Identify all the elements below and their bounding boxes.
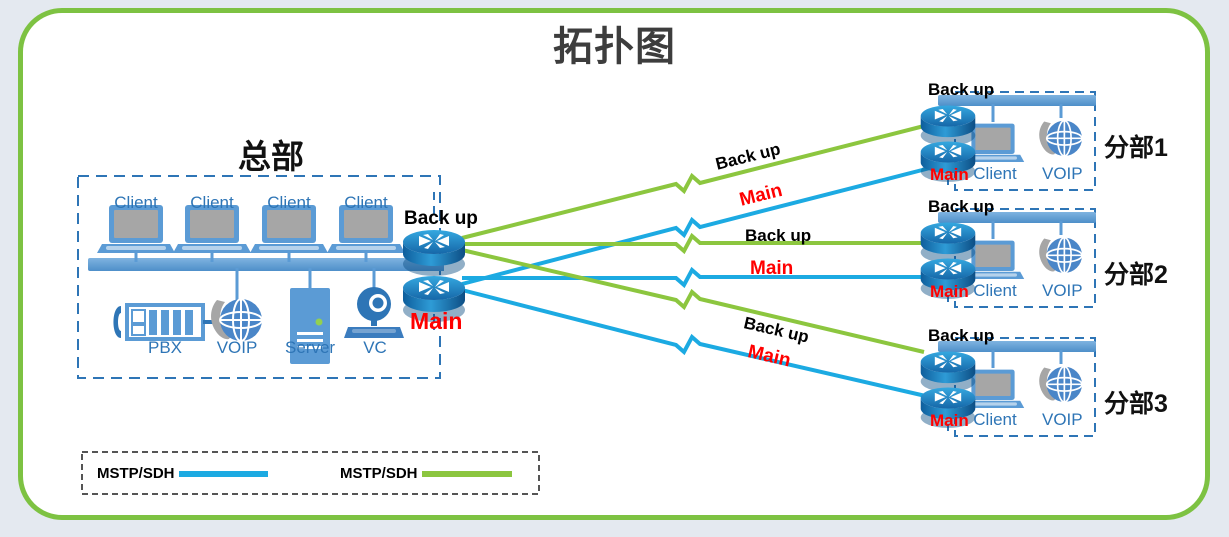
hq-pbx-label: PBX [140, 338, 190, 357]
hq-backup-router-label: Back up [404, 208, 478, 230]
hq-client-2-label: Client [187, 193, 237, 212]
topology-diagram: 拓扑图 总部 [0, 0, 1229, 537]
branch-1-main-label: Main [930, 165, 969, 185]
legend-item-0-label: MSTP/SDH [97, 465, 175, 482]
link-main-branch2-label: Main [750, 258, 793, 280]
link-backup-branch2-label: Back up [745, 226, 811, 246]
branch-2-backup-label: Back up [928, 197, 994, 217]
branch-3-voip-label: VOIP [1042, 410, 1082, 429]
branch-2-title: 分部2 [1104, 255, 1168, 291]
hq-main-router-label: Main [410, 308, 462, 335]
diagram-frame [18, 8, 1210, 520]
branch-1-voip-label: VOIP [1042, 164, 1082, 183]
legend-item-1-label: MSTP/SDH [340, 465, 418, 482]
branch-1-title: 分部1 [1104, 128, 1168, 164]
branch-3-backup-label: Back up [928, 326, 994, 346]
branch-3-main-label: Main [930, 411, 969, 431]
hq-client-3-label: Client [264, 193, 314, 212]
branch-2-client-label: Client [972, 281, 1018, 300]
hq-client-4-label: Client [341, 193, 391, 212]
branch-3-title: 分部3 [1104, 384, 1168, 420]
branch-2-voip-label: VOIP [1042, 281, 1082, 300]
headquarters-title: 总部 [186, 130, 356, 178]
page-title: 拓扑图 [0, 14, 1229, 72]
hq-client-1-label: Client [111, 193, 161, 212]
hq-vc-label: VC [356, 338, 394, 357]
branch-1-client-label: Client [972, 164, 1018, 183]
branch-2-main-label: Main [930, 282, 969, 302]
hq-server-label: Server [285, 338, 335, 357]
branch-3-client-label: Client [972, 410, 1018, 429]
branch-1-backup-label: Back up [928, 80, 994, 100]
hq-voip-label: VOIP [216, 338, 258, 357]
